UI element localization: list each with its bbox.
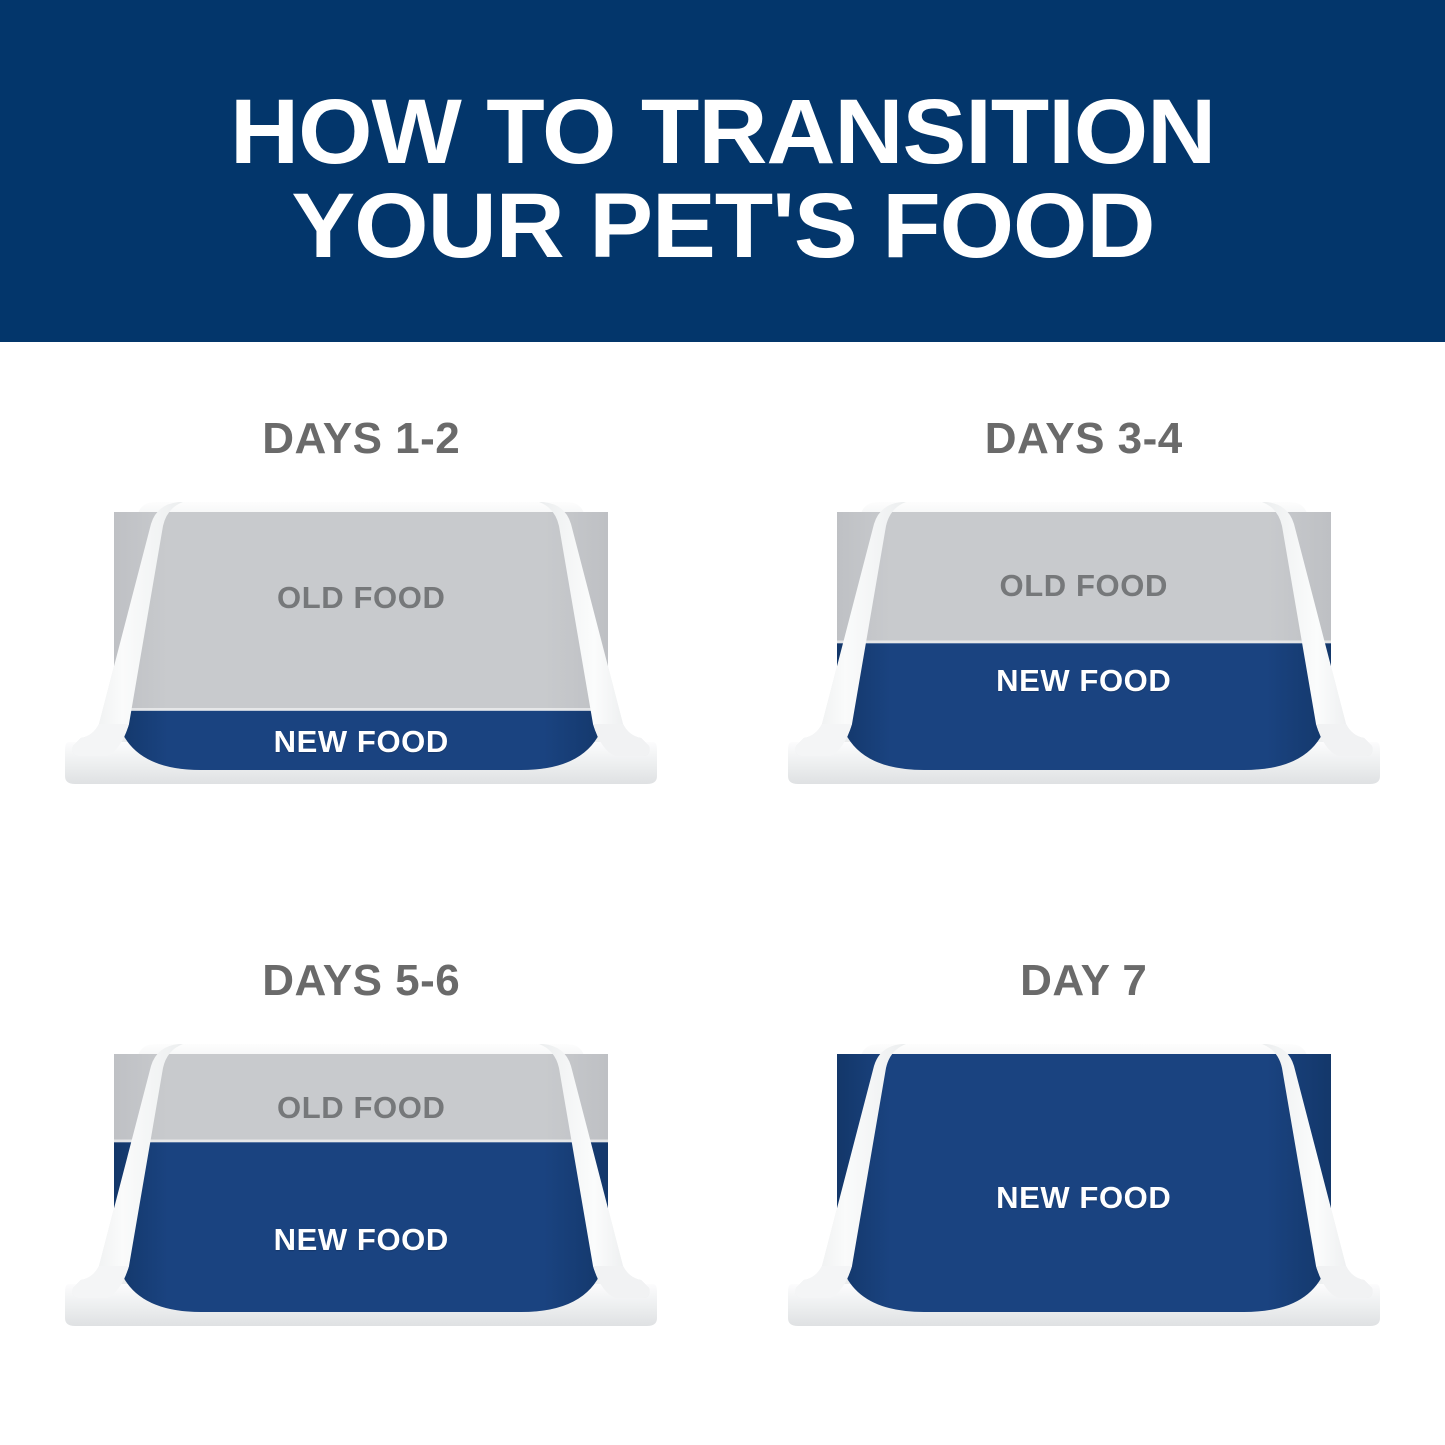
bowl-food-area [829, 1050, 1344, 1322]
new-food-fill [106, 1142, 621, 1322]
bowl-food-area [106, 1050, 621, 1322]
new-food-fill [829, 1050, 1344, 1322]
header-title-line-1: HOW TO TRANSITION [230, 86, 1215, 180]
step-card-days-1-2: DAYS 1-2 [0, 342, 723, 894]
step-day-label: DAYS 1-2 [262, 414, 460, 464]
step-card-day-7: DAY 7 [723, 894, 1445, 1445]
food-divider [829, 641, 1344, 644]
food-bowl-days-5-6: OLD FOOD NEW FOOD [51, 1030, 671, 1342]
step-day-label: DAYS 3-4 [985, 414, 1183, 464]
bowl-food-area [106, 508, 621, 781]
food-bowl-days-3-4: OLD FOOD NEW FOOD [774, 488, 1394, 800]
food-bowl-day-7: NEW FOOD [774, 1030, 1394, 1342]
step-day-label: DAYS 5-6 [262, 956, 460, 1006]
step-card-days-5-6: DAYS 5-6 [0, 894, 723, 1445]
transition-steps-grid: DAYS 1-2 [0, 342, 1445, 1445]
header-banner: HOW TO TRANSITION YOUR PET'S FOOD [0, 0, 1445, 342]
header-title-line-2: YOUR PET'S FOOD [291, 180, 1154, 274]
food-divider [106, 1139, 621, 1142]
bowl-food-area [829, 508, 1344, 780]
food-bowl-days-1-2: OLD FOOD NEW FOOD [51, 488, 671, 800]
step-day-label: DAY 7 [1020, 956, 1147, 1006]
step-card-days-3-4: DAYS 3-4 [723, 342, 1445, 894]
food-divider [106, 708, 621, 711]
new-food-fill [829, 643, 1344, 780]
